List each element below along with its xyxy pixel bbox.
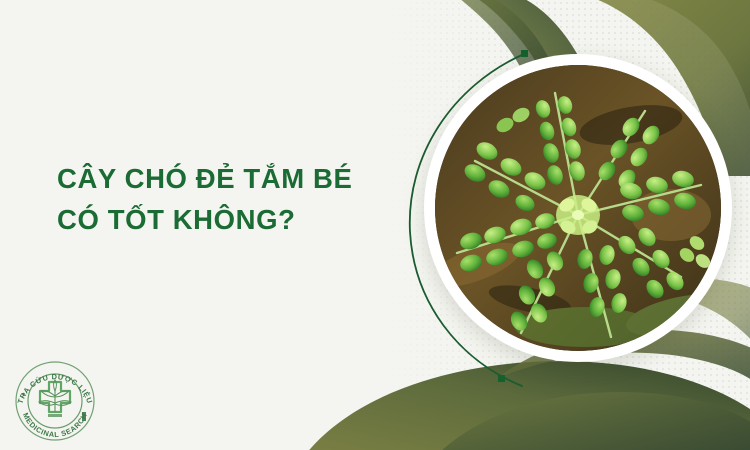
title-line-1: CÂY CHÓ ĐẺ TẮM BÉ — [57, 158, 387, 199]
brand-logo[interactable]: TRA CỨU DƯỢC LIỆU MEDICINAL SEARCH — [12, 358, 98, 444]
plant-photo-illustration — [435, 65, 721, 351]
page-title: CÂY CHÓ ĐẺ TẮM BÉ CÓ TỐT KHÔNG? — [57, 158, 387, 240]
arc-dot-bottom-icon — [498, 375, 505, 382]
plant-photo — [435, 65, 721, 351]
photo-circle — [424, 54, 732, 362]
logo-emblem-icon: TRA CỨU DƯỢC LIỆU MEDICINAL SEARCH — [12, 358, 98, 444]
title-line-2: CÓ TỐT KHÔNG? — [57, 199, 387, 240]
poster-canvas: CÂY CHÓ ĐẺ TẮM BÉ CÓ TỐT KHÔNG? — [0, 0, 750, 450]
